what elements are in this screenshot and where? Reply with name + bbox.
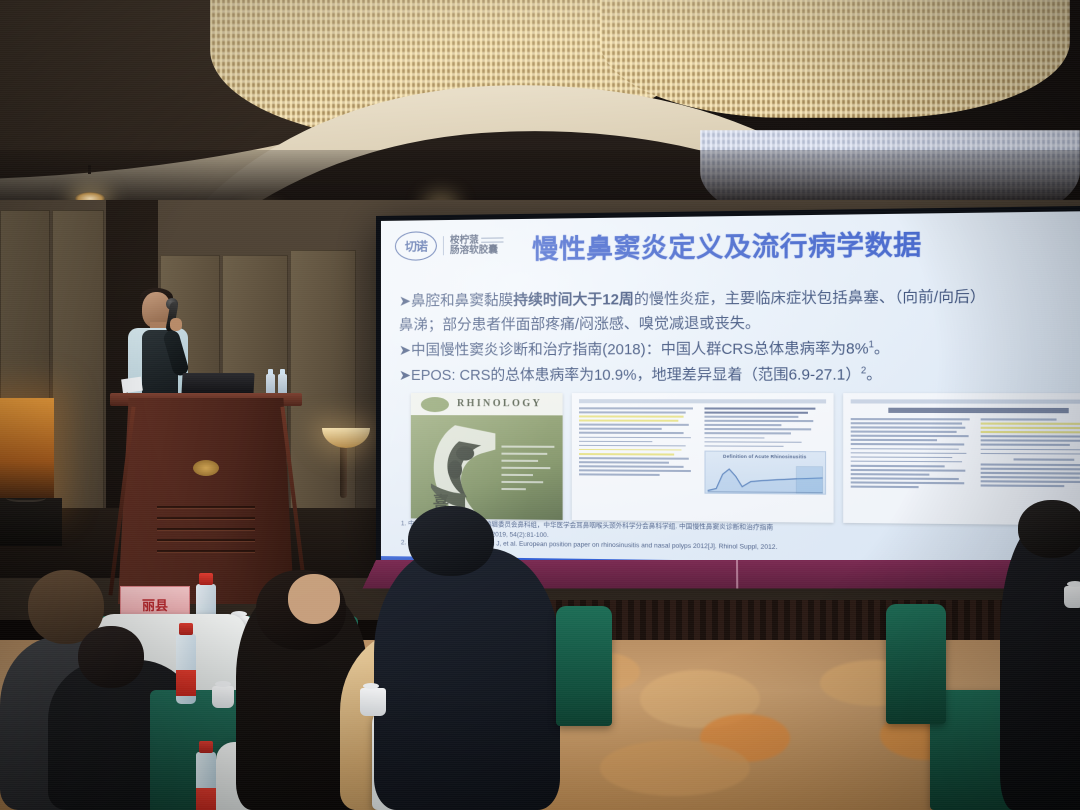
doc-col-left — [579, 407, 698, 494]
guideline-title-bar — [888, 408, 1068, 414]
podium-emblem-icon — [193, 460, 219, 476]
chart-caption: Definition of Acute Rhinosinusitis — [705, 454, 824, 460]
podium-slats — [157, 506, 256, 561]
bullet-3-end: 。 — [874, 341, 890, 358]
conference-photo: 切诺 桉柠蒎 肠溶软胶囊 慢性鼻窦炎定义及流行病学数据 ➤鼻腔和鼻窦黏膜持续时间… — [0, 0, 1080, 810]
table-cup-3 — [360, 688, 386, 716]
bullet-4-seg-1: EPOS: CRS的总体患病率为10.9%，地理差异显着（范围6.9-27.1） — [411, 367, 861, 384]
wall-alcove-light — [0, 398, 54, 503]
logo-mark-icon: 切诺 — [395, 231, 437, 261]
podium-laptop — [181, 373, 254, 395]
attendee-center-right-head — [408, 506, 494, 576]
bullet-marker-4: ➤ — [399, 367, 411, 383]
bullet-2-seg-1: 鼻涕；部分患者伴面部疼痛/闷涨感、嗅觉减退或丧失。 — [399, 316, 760, 334]
guideline-col-left — [850, 418, 974, 491]
bullet-4-end: 。 — [866, 366, 882, 383]
sinus-anatomy-illustration: 喜 — [425, 423, 512, 516]
journal-logo-icon — [421, 397, 449, 412]
attendee-far-right-head — [1018, 500, 1080, 558]
ceiling — [0, 0, 1080, 232]
bullet-line-1: ➤鼻腔和鼻窦黏膜持续时间大于12周的慢性炎症，主要临床症状包括鼻塞、（向前/向后… — [399, 285, 1080, 315]
table-water-bottle-3 — [196, 752, 216, 810]
chair-mid-back — [556, 606, 612, 726]
downlight-stem-1 — [88, 165, 91, 174]
bullet-1-seg-2: 持续时间大于12周 — [513, 292, 634, 309]
bullet-marker-1: ➤ — [399, 294, 411, 310]
logo-line-2: 肠溶软胶囊 — [450, 245, 503, 256]
bullet-line-3: ➤中国慢性窦炎诊断和治疗指南(2018)：中国人群CRS总体患病率为8%1。 — [399, 336, 1080, 364]
journal-title: RHINOLOGY — [457, 398, 542, 409]
table-cup-2 — [212, 686, 234, 708]
attendee-front-left-2-head — [78, 626, 144, 688]
slide-bullets: ➤鼻腔和鼻窦黏膜持续时间大于12周的慢性炎症，主要临床症状包括鼻塞、（向前/向后… — [399, 285, 1080, 388]
wall-panel-2 — [52, 210, 104, 510]
bullet-line-2: 鼻涕；部分患者伴面部疼痛/闷涨感、嗅觉减退或丧失。 — [399, 310, 1080, 338]
attendee-center-ear — [288, 574, 340, 624]
slide-title: 慢性鼻窦炎定义及流行病学数据 — [532, 224, 922, 267]
brand-logo: 切诺 桉柠蒎 肠溶软胶囊 — [395, 230, 503, 260]
acute-rhinosinusitis-chart: Definition of Acute Rhinosinusitis — [704, 451, 825, 495]
side-equipment-table — [0, 498, 62, 546]
bullet-line-4: ➤EPOS: CRS的总体患病率为10.9%，地理差异显着（范围6.9-27.1… — [399, 362, 1080, 388]
rhinology-journal-cover: RHINOLOGY 喜 — [411, 393, 563, 520]
equipment-cable — [6, 492, 46, 502]
journal-subtitle-lines — [501, 446, 554, 496]
speaker-notes — [121, 377, 143, 394]
table-cup-4 — [1064, 586, 1080, 608]
bullet-1-seg-3: 的慢性炎症，主要临床症状包括鼻塞、（向前/向后） — [634, 289, 986, 308]
guideline-col-right — [981, 418, 1080, 492]
attendee-far-right-body — [1000, 520, 1080, 810]
chair-right-back — [886, 604, 946, 724]
bullet-marker-3: ➤ — [399, 343, 411, 359]
speaker-hand — [170, 318, 182, 331]
table-water-bottle-2 — [176, 634, 196, 704]
bullet-3-seg-1: 中国慢性窦炎诊断和治疗指南(2018)：中国人群CRS总体患病率为8% — [411, 341, 869, 359]
doc-col-right: Definition of Acute Rhinosinusitis — [704, 407, 825, 495]
logo-text: 桉柠蒎 肠溶软胶囊 — [443, 235, 503, 256]
gold-crystal-chandelier-right — [600, 0, 1070, 118]
slide-figures: RHINOLOGY 喜 — [411, 393, 1080, 526]
bullet-1-seg-1: 鼻腔和鼻窦黏膜 — [411, 293, 513, 310]
epos-document-page: Definition of Acute Rhinosinusitis — [572, 393, 833, 523]
attendee-center-right-body — [374, 548, 560, 810]
